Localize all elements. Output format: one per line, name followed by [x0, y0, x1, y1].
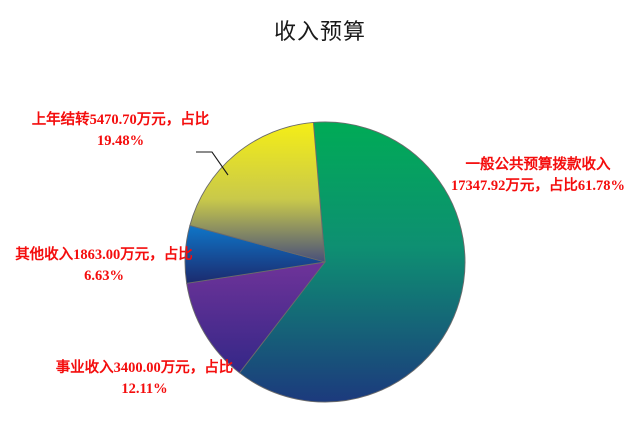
pie-chart-figure: 收入预算 — [0, 0, 640, 431]
pie-label-operating-income: 事业收入3400.00万元，占比12.11% — [52, 358, 237, 399]
pie-label-general-budget: 一般公共预算拨款收入17347.92万元，占比61.78% — [450, 155, 626, 196]
pie-label-other-income: 其他收入1863.00万元，占比6.63% — [14, 245, 194, 286]
pie-label-carryover: 上年结转5470.70万元，占比19.48% — [28, 110, 213, 151]
